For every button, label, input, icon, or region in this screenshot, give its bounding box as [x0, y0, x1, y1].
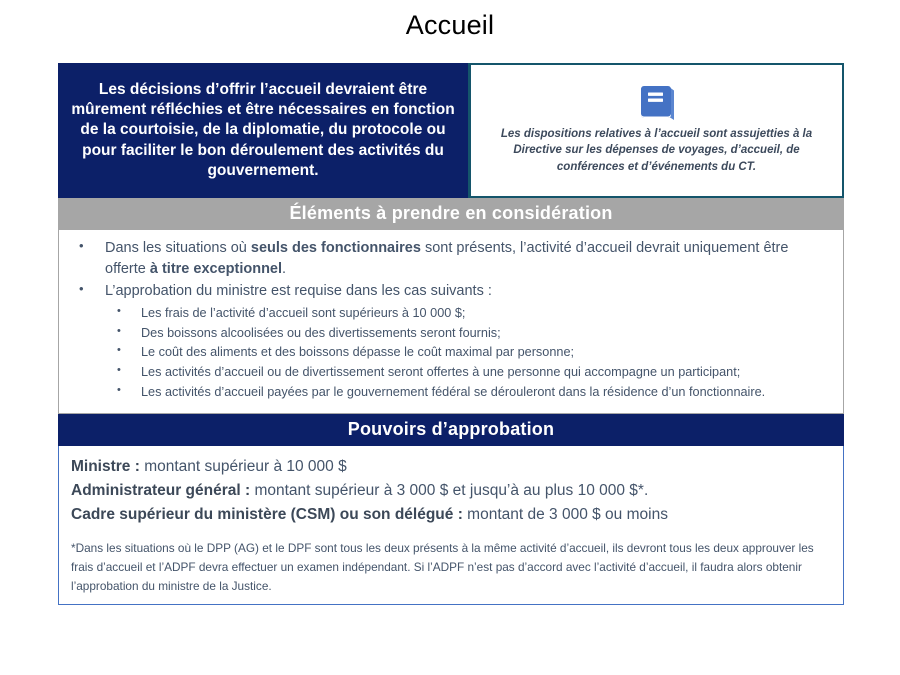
- statement-text: Les décisions d’offrir l’accueil devraie…: [66, 80, 460, 181]
- authority-value: montant supérieur à 3 000 $ et jusqu’à a…: [250, 482, 648, 499]
- statement-box: Les décisions d’offrir l’accueil devraie…: [58, 63, 468, 198]
- page-title: Accueil: [0, 10, 900, 41]
- authority-body: Ministre : montant supérieur à 10 000 $ …: [58, 446, 844, 605]
- authority-value: montant supérieur à 10 000 $: [140, 458, 347, 475]
- bullet-text: L’approbation du ministre est requise da…: [105, 283, 492, 299]
- considerations-body: Dans les situations où seuls des fonctio…: [58, 230, 844, 414]
- considerations-band: Éléments à prendre en considération: [58, 198, 844, 230]
- considerations-list: Dans les situations où seuls des fonctio…: [65, 238, 833, 402]
- list-item: L’approbation du ministre est requise da…: [65, 281, 833, 402]
- authority-band: Pouvoirs d’approbation: [58, 414, 844, 446]
- list-item: Dans les situations où seuls des fonctio…: [65, 238, 833, 280]
- authority-footnote: *Dans les situations où le DPP (AG) et l…: [71, 539, 831, 596]
- authority-line: Ministre : montant supérieur à 10 000 $: [71, 455, 831, 479]
- authority-label: Ministre :: [71, 458, 140, 475]
- bullet-run-bold: seuls des fonctionnaires: [251, 240, 421, 256]
- authority-label: Administrateur général :: [71, 482, 250, 499]
- bullet-run: Dans les situations où: [105, 240, 251, 256]
- authority-line: Cadre supérieur du ministère (CSM) ou so…: [71, 503, 831, 527]
- bullet-run: .: [282, 261, 286, 277]
- sub-list-item: Les activités d’accueil payées par le go…: [105, 383, 833, 403]
- note-box: Les dispositions relatives à l’accueil s…: [468, 63, 844, 198]
- slide-root: Accueil Les décisions d’offrir l’accueil…: [0, 0, 900, 675]
- note-text: Les dispositions relatives à l’accueil s…: [485, 126, 828, 175]
- sub-list-item: Les frais de l’activité d’accueil sont s…: [105, 304, 833, 324]
- sub-list-item: Les activités d’accueil ou de divertisse…: [105, 363, 833, 383]
- bullet-text: Dans les situations où seuls des fonctio…: [105, 240, 788, 277]
- considerations-sublist: Les frais de l’activité d’accueil sont s…: [105, 304, 833, 402]
- bullet-run-bold: à titre exceptionnel: [150, 261, 282, 277]
- content-graphic: Les décisions d’offrir l’accueil devraie…: [58, 63, 844, 605]
- authority-line: Administrateur général : montant supérie…: [71, 479, 831, 503]
- top-row: Les décisions d’offrir l’accueil devraie…: [58, 63, 844, 198]
- sub-list-item: Le coût des aliments et des boissons dép…: [105, 343, 833, 363]
- authority-value: montant de 3 000 $ ou moins: [463, 506, 668, 523]
- authority-label: Cadre supérieur du ministère (CSM) ou so…: [71, 506, 463, 523]
- book-icon: [635, 82, 679, 124]
- sub-list-item: Des boissons alcoolisées ou des divertis…: [105, 324, 833, 344]
